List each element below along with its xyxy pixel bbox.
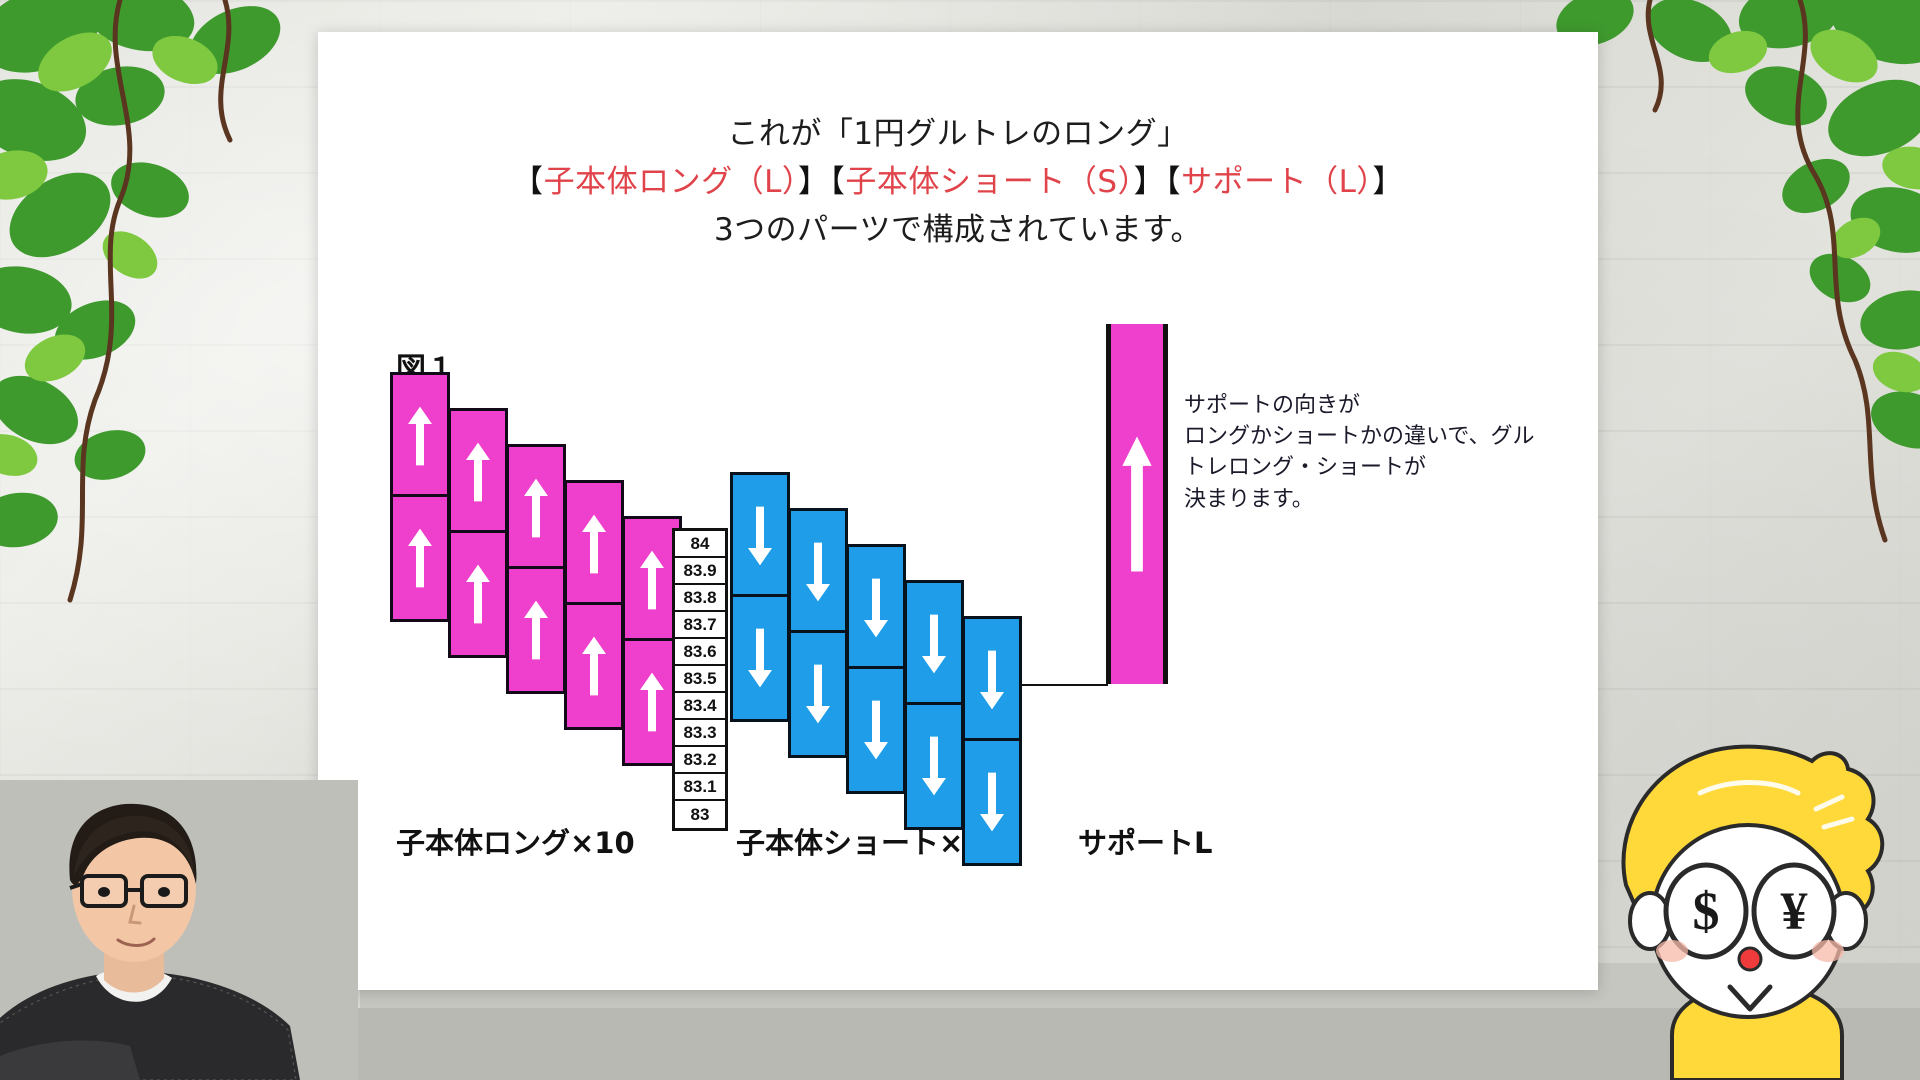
price-tick: 83.5 <box>675 666 725 693</box>
long-bar-c3-r1 <box>564 602 624 730</box>
arrow-up-icon <box>458 556 498 632</box>
long-bar-c3-r0 <box>564 480 624 608</box>
arrow-down-icon <box>740 620 780 696</box>
short-bar-c1-r0 <box>788 508 848 636</box>
arrow-down-icon <box>798 534 838 610</box>
arrow-up-icon <box>400 520 440 596</box>
bracket-mid-2: 】【 <box>1134 164 1182 200</box>
long-bar-c2-r1 <box>506 566 566 694</box>
arrow-up-icon <box>400 398 440 474</box>
arrow-down-icon <box>914 606 954 682</box>
arrow-down-icon <box>914 728 954 804</box>
arrow-down-icon <box>972 642 1012 718</box>
long-bar-c0-r0 <box>390 372 450 500</box>
short-bar-c4-r0 <box>962 616 1022 744</box>
arrow-up-icon <box>632 542 672 618</box>
arrow-up-icon <box>400 398 440 474</box>
arrow-up-icon <box>632 664 672 740</box>
price-tick: 83.2 <box>675 747 725 774</box>
legend-label-support: サポートL <box>1078 820 1212 902</box>
price-tick: 83.1 <box>675 774 725 801</box>
arrow-down-icon <box>856 570 896 646</box>
arrow-down-icon <box>740 498 780 574</box>
arrow-down-icon <box>740 498 780 574</box>
long-bar-c0-r1 <box>390 494 450 622</box>
long-bar-c1-r0 <box>448 408 508 536</box>
arrow-up-icon <box>458 556 498 632</box>
arrow-up-icon <box>574 628 614 704</box>
arrow-up-icon <box>574 506 614 582</box>
arrow-down-icon <box>972 764 1012 840</box>
dollar-icon: $ <box>1693 881 1720 941</box>
short-bar-c4-r1 <box>962 738 1022 866</box>
short-bar-c2-r0 <box>846 544 906 672</box>
presenter-webcam <box>0 780 358 1080</box>
title-line-3: 3つのパーツで構成されています。 <box>318 206 1598 254</box>
arrow-up-icon <box>1115 429 1159 579</box>
arrow-up-icon <box>1115 429 1159 579</box>
part-label-long: 子本体ロング（L） <box>544 164 798 200</box>
price-tick: 83.3 <box>675 720 725 747</box>
short-bar-c0-r1 <box>730 594 790 722</box>
slide-title: これが「1円グルトレのロング」 【子本体ロング（L）】【子本体ショート（S）】【… <box>318 110 1598 254</box>
arrow-down-icon <box>972 642 1012 718</box>
short-bar-c1-r1 <box>788 630 848 758</box>
arrow-down-icon <box>856 570 896 646</box>
arrow-up-icon <box>400 520 440 596</box>
legend-label-long: 子本体ロング×10 <box>396 820 635 902</box>
title-line-2: 【子本体ロング（L）】【子本体ショート（S）】【サポート（L）】 <box>318 158 1598 206</box>
arrow-up-icon <box>632 664 672 740</box>
arrow-up-icon <box>516 592 556 668</box>
arrow-up-icon <box>516 470 556 546</box>
arrow-down-icon <box>914 606 954 682</box>
arrow-down-icon <box>798 534 838 610</box>
title-line-1: これが「1円グルトレのロング」 <box>318 110 1598 158</box>
price-tick: 83.8 <box>675 585 725 612</box>
price-tick: 83.4 <box>675 693 725 720</box>
mascot-character: $ ¥ <box>1580 735 1920 1080</box>
arrow-up-icon <box>516 470 556 546</box>
price-tick: 83.9 <box>675 558 725 585</box>
support-bar-long <box>1106 324 1168 684</box>
arrow-up-icon <box>458 434 498 510</box>
price-tick: 84 <box>675 531 725 558</box>
yen-icon: ¥ <box>1781 881 1808 941</box>
arrow-up-icon <box>632 542 672 618</box>
price-tick: 83.6 <box>675 639 725 666</box>
arrow-down-icon <box>798 656 838 732</box>
price-tick: 83.7 <box>675 612 725 639</box>
part-label-short: 子本体ショート（S） <box>845 164 1133 200</box>
bracket-close: 】 <box>1372 164 1404 200</box>
short-bar-c3-r1 <box>904 702 964 830</box>
arrow-down-icon <box>856 692 896 768</box>
bracket-mid-1: 】【 <box>798 164 846 200</box>
arrow-down-icon <box>914 728 954 804</box>
long-bar-c2-r0 <box>506 444 566 572</box>
presentation-slide: これが「1円グルトレのロング」 【子本体ロング（L）】【子本体ショート（S）】【… <box>318 32 1598 990</box>
short-bar-c3-r0 <box>904 580 964 708</box>
baseline-connector <box>1020 684 1108 686</box>
short-bar-c0-r0 <box>730 472 790 600</box>
arrow-down-icon <box>798 656 838 732</box>
bracket-open-1: 【 <box>512 164 544 200</box>
part-label-support: サポート（L） <box>1181 164 1372 200</box>
arrow-up-icon <box>574 506 614 582</box>
arrow-up-icon <box>516 592 556 668</box>
price-tick: 83 <box>675 801 725 828</box>
arrow-up-icon <box>458 434 498 510</box>
long-bar-c1-r1 <box>448 530 508 658</box>
arrow-down-icon <box>740 620 780 696</box>
arrow-up-icon <box>574 628 614 704</box>
short-bar-c2-r1 <box>846 666 906 794</box>
arrow-down-icon <box>972 764 1012 840</box>
arrow-down-icon <box>856 692 896 768</box>
ivy-foliage-left <box>0 0 330 640</box>
grid-trade-diagram: サポートの向きが ロングかショートかの違いで、グル トレロング・ショートが 決ま… <box>378 372 1538 902</box>
price-scale: 8483.983.883.783.683.583.483.383.283.183 <box>672 528 728 831</box>
support-direction-note: サポートの向きが ロングかショートかの違いで、グル トレロング・ショートが 決ま… <box>1184 390 1584 515</box>
